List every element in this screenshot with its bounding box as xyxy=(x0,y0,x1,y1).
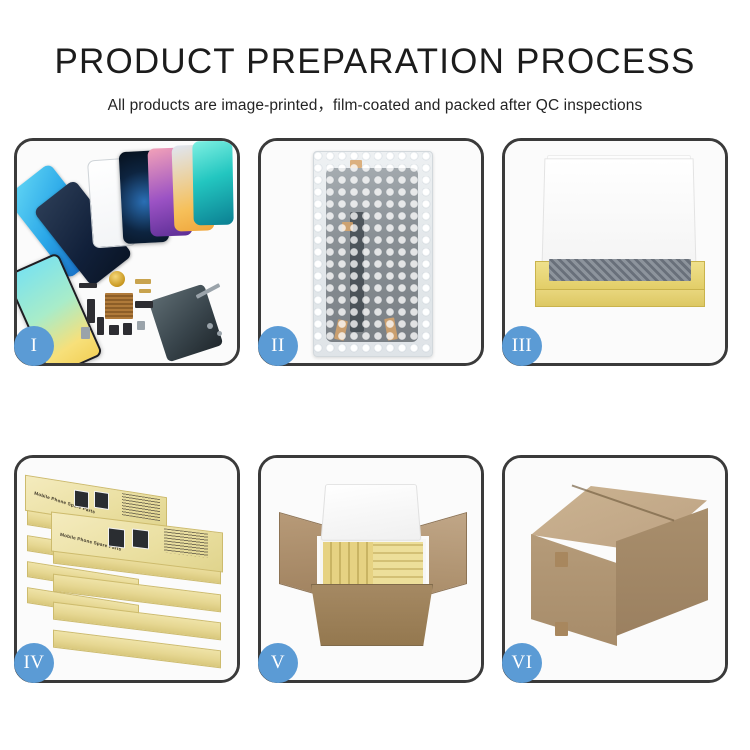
step-image-4: Mobile Phone Spare Parts Mobile Phone Sp… xyxy=(17,458,237,680)
product-preparation-infographic: PRODUCT PREPARATION PROCESS All products… xyxy=(0,0,750,750)
part-screw-2 xyxy=(217,331,222,336)
step-panel-5: V xyxy=(258,455,484,683)
step-badge-5: V xyxy=(258,643,298,683)
box-thumb-a1 xyxy=(74,490,89,509)
scene-components-and-screens xyxy=(17,141,237,363)
inner-box-front-face xyxy=(535,289,705,307)
step-badge-1: I xyxy=(14,326,54,366)
scene-foam-lined-inner-box xyxy=(505,141,725,363)
part-logic-board xyxy=(105,293,133,319)
part-speaker-round xyxy=(109,271,125,287)
part-flex-gold xyxy=(135,279,151,284)
scene-sealed-shipping-carton xyxy=(505,458,725,680)
step-badge-6: VI xyxy=(502,643,542,683)
part-button-set xyxy=(123,323,132,335)
step-panel-6: VI xyxy=(502,455,728,683)
scene-bubble-wrapped-screen xyxy=(261,141,481,363)
step-image-5 xyxy=(261,458,481,680)
step-panel-1: I xyxy=(14,138,240,366)
part-cable-left-2 xyxy=(97,317,104,335)
step-image-6 xyxy=(505,458,725,680)
process-steps-grid: I II xyxy=(14,138,736,683)
carton-tape-lower xyxy=(555,622,568,636)
part-camera-module xyxy=(109,325,119,335)
page-title: PRODUCT PREPARATION PROCESS xyxy=(0,42,750,82)
part-sim-tray xyxy=(81,327,90,339)
step-image-1 xyxy=(17,141,237,363)
page-subtitle: All products are image-printed，film-coat… xyxy=(0,93,750,115)
scene-stacked-retail-boxes: Mobile Phone Spare Parts Mobile Phone Sp… xyxy=(17,458,237,680)
packed-boxes-row-2 xyxy=(373,542,423,584)
box-thumb-b1 xyxy=(108,527,125,548)
part-screw xyxy=(207,323,213,329)
step-panel-3: III xyxy=(502,138,728,366)
step-badge-4: IV xyxy=(14,643,54,683)
header: PRODUCT PREPARATION PROCESS All products… xyxy=(0,0,750,115)
step-panel-4: Mobile Phone Spare Parts Mobile Phone Sp… xyxy=(14,455,240,683)
part-bracket xyxy=(137,321,145,330)
part-cable-left xyxy=(87,299,95,323)
part-flex-gold-2 xyxy=(139,289,151,293)
box-thumb-a2 xyxy=(94,491,109,510)
step-badge-2: II xyxy=(258,326,298,366)
wrapped-screen-assembly xyxy=(326,168,418,342)
step-image-3 xyxy=(505,141,725,363)
carton-body xyxy=(311,584,433,646)
inner-box-white-lid xyxy=(542,158,697,267)
step-badge-3: III xyxy=(502,326,542,366)
scene-carton-with-foam-liner xyxy=(261,458,481,680)
tray-bubble-contents xyxy=(549,259,691,281)
part-flex-right xyxy=(135,301,153,308)
box-spec-lines-a xyxy=(122,493,160,521)
foam-lid xyxy=(321,484,422,541)
step-panel-2: II xyxy=(258,138,484,366)
box-thumb-b2 xyxy=(132,528,149,549)
carton-left-face xyxy=(531,534,617,646)
phone-display-teal xyxy=(192,141,233,225)
box-spec-lines-b xyxy=(164,528,208,557)
part-connector-strip xyxy=(79,283,97,288)
carton-tape-upper xyxy=(555,552,568,567)
bubble-wrap-bag xyxy=(313,151,433,357)
tape-piece-top xyxy=(350,160,362,168)
step-image-2 xyxy=(261,141,481,363)
tape-piece-mid xyxy=(342,222,353,231)
